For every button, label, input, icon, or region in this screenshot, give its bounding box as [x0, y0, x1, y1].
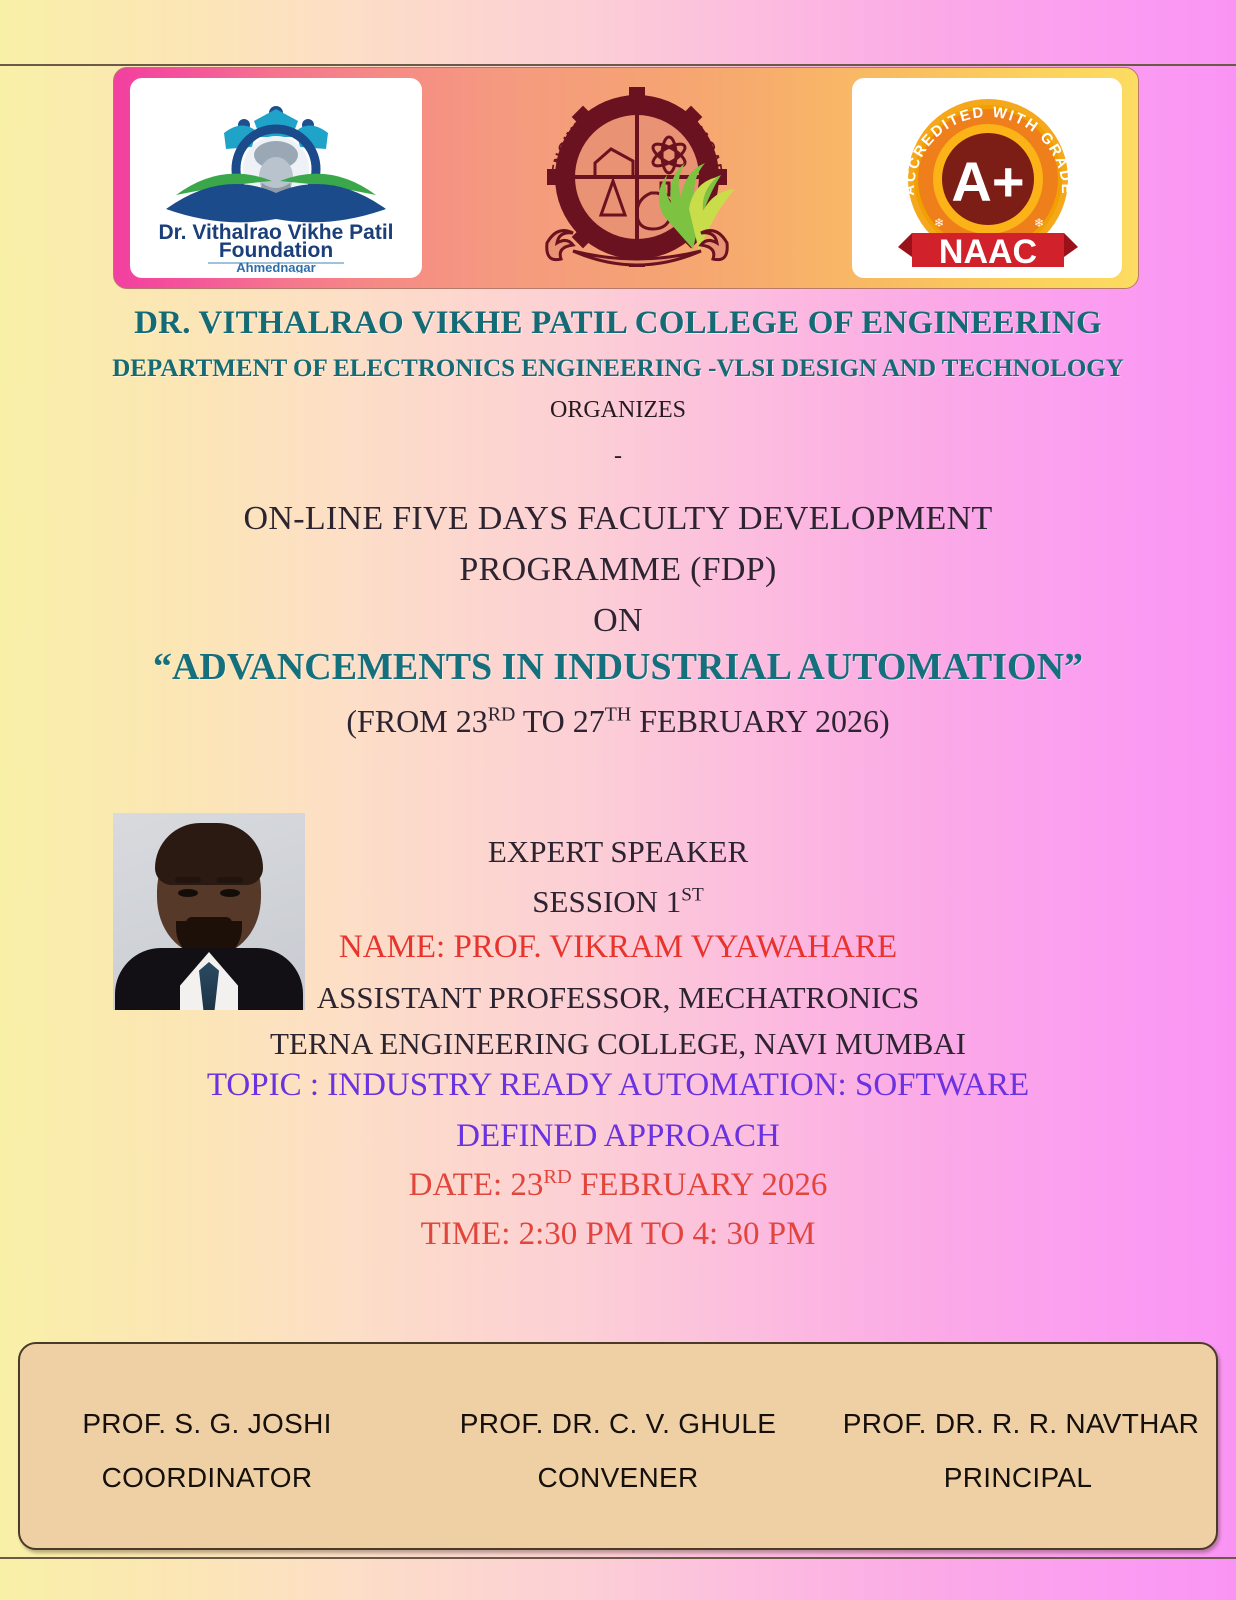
- signatory-name: PROF. S. G. JOSHI: [18, 1408, 418, 1440]
- event-date-range: (FROM 23RD TO 27TH FEBRUARY 2026): [0, 703, 1236, 740]
- signatory-convener: PROF. DR. C. V. GHULE CONVENER: [418, 1408, 818, 1494]
- signatory-role: COORDINATOR: [18, 1462, 418, 1494]
- session-text: SESSION 1: [532, 884, 681, 919]
- footer-signatories: PROF. S. G. JOSHI COORDINATOR PROF. DR. …: [18, 1376, 1218, 1526]
- naac-accreditation-badge: A+ ACCREDITED WITH GRADE ❄ ❄ NAAC: [852, 78, 1122, 278]
- signatory-name: PROF. DR. C. V. GHULE: [418, 1408, 818, 1440]
- speaker-topic-line-2: DEFINED APPROACH: [0, 1118, 1236, 1155]
- bottom-divider-rule: [0, 1557, 1236, 1559]
- speaker-topic-line-1: TOPIC : INDUSTRY READY AUTOMATION: SOFTW…: [0, 1067, 1236, 1104]
- event-line-3: ON: [0, 602, 1236, 640]
- signatory-role: PRINCIPAL: [818, 1462, 1218, 1494]
- organizes-label: ORGANIZES: [0, 397, 1236, 424]
- photo-brow-right: [217, 877, 243, 883]
- expert-speaker-label: EXPERT SPEAKER: [0, 834, 1236, 870]
- top-divider-rule: [0, 64, 1236, 66]
- event-topic-title: “ADVANCEMENTS IN INDUSTRIAL AUTOMATION”: [0, 645, 1236, 689]
- date-range-ordinal-1: RD: [488, 703, 516, 725]
- svg-text:Foundation: Foundation: [219, 239, 333, 262]
- signatory-coordinator: PROF. S. G. JOSHI COORDINATOR: [18, 1408, 418, 1494]
- date-range-suffix: FEBRUARY 2026): [631, 703, 889, 739]
- event-line-2: PROGRAMME (FDP): [0, 551, 1236, 589]
- session-date-suffix: FEBRUARY 2026: [572, 1167, 828, 1203]
- session-date-prefix: DATE: 23: [409, 1167, 544, 1203]
- svg-text:❄: ❄: [934, 216, 944, 230]
- dvvp-foundation-logo: Dr. Vithalrao Vikhe Patil Foundation Ahm…: [130, 78, 422, 278]
- event-line-1: ON-LINE FIVE DAYS FACULTY DEVELOPMENT: [0, 500, 1236, 538]
- separator-dash: -: [0, 443, 1236, 470]
- pdvvp-college-emblem: ENGINEERING, AHMEDNAGAR P.D.V.V.P.COLLEG…: [511, 74, 763, 282]
- logo-banner: Dr. Vithalrao Vikhe Patil Foundation Ahm…: [113, 67, 1139, 289]
- speaker-designation: ASSISTANT PROFESSOR, MECHATRONICS: [0, 980, 1236, 1016]
- date-range-ordinal-2: TH: [605, 703, 631, 725]
- signatory-principal: PROF. DR. R. R. NAVTHAR PRINCIPAL: [818, 1408, 1218, 1494]
- signatory-name: PROF. DR. R. R. NAVTHAR: [818, 1408, 1218, 1440]
- college-title: DR. VITHALRAO VIKHE PATIL COLLEGE OF ENG…: [0, 305, 1236, 342]
- session-ordinal: ST: [681, 885, 703, 906]
- session-time: TIME: 2:30 PM TO 4: 30 PM: [0, 1216, 1236, 1253]
- department-title: DEPARTMENT OF ELECTRONICS ENGINEERING -V…: [0, 355, 1236, 383]
- speaker-name: NAME: PROF. VIKRAM VYAWAHARE: [0, 929, 1236, 966]
- date-range-mid: TO 27: [515, 703, 605, 739]
- session-label: SESSION 1ST: [0, 884, 1236, 920]
- svg-text:NAAC: NAAC: [939, 233, 1037, 271]
- session-date: DATE: 23RD FEBRUARY 2026: [0, 1166, 1236, 1204]
- svg-text:Ahmednagar: Ahmednagar: [236, 260, 315, 273]
- photo-brow-left: [175, 877, 201, 883]
- signatory-role: CONVENER: [418, 1462, 818, 1494]
- session-date-ordinal: RD: [543, 1166, 571, 1188]
- date-range-prefix: (FROM 23: [346, 703, 487, 739]
- svg-text:❄: ❄: [1034, 216, 1044, 230]
- speaker-institute: TERNA ENGINEERING COLLEGE, NAVI MUMBAI: [0, 1026, 1236, 1062]
- svg-text:A+: A+: [951, 150, 1024, 213]
